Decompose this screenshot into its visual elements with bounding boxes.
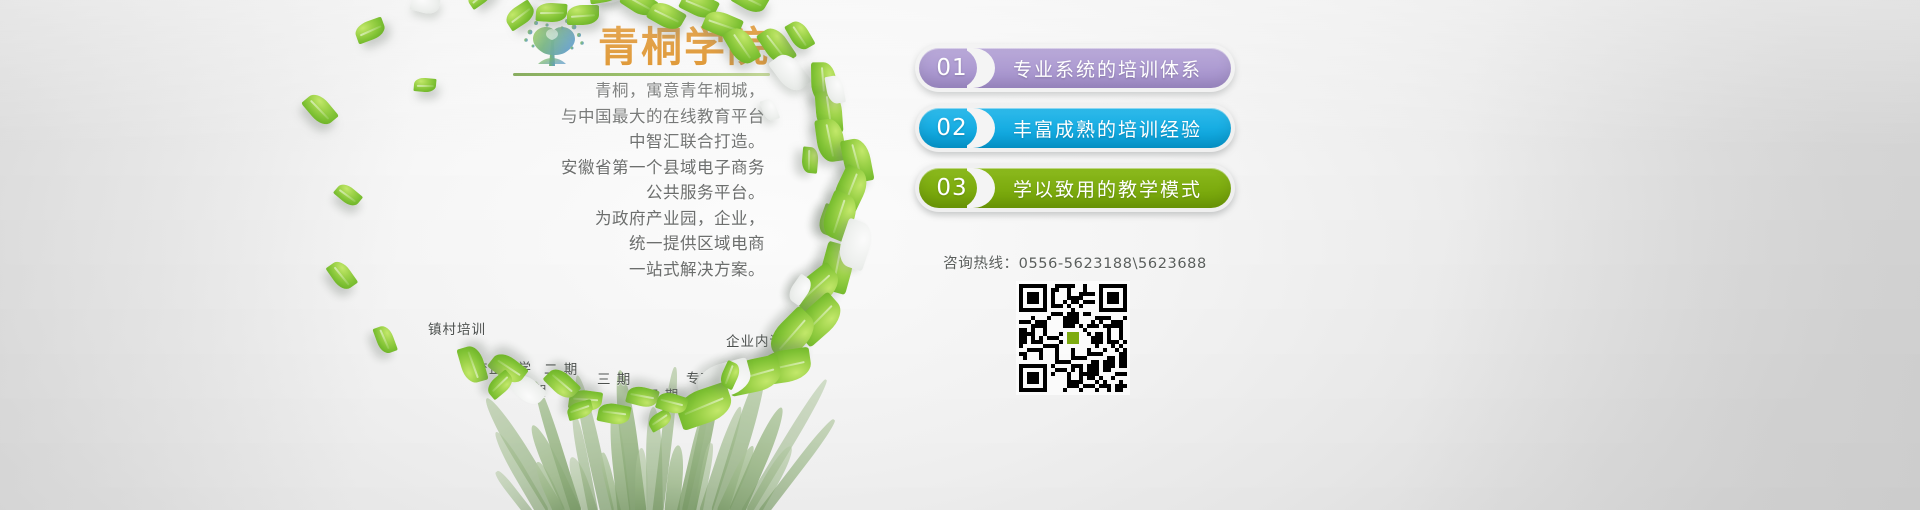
- leaf-icon: [465, 0, 496, 10]
- leaf-vein: [808, 150, 810, 170]
- leaf-vein: [631, 393, 655, 399]
- leaf-vein: [510, 8, 529, 23]
- feature-pill-03[interactable]: 03学以致用的教学模式: [915, 164, 1235, 212]
- leaf-icon: [409, 0, 441, 17]
- pill-number: 01: [919, 55, 983, 81]
- leaf-icon: [301, 90, 339, 130]
- leaf-vein: [601, 411, 625, 416]
- leaf-icon: [372, 324, 398, 356]
- leaf-icon: [326, 257, 358, 292]
- pill-label: 丰富成熟的培训经验: [983, 115, 1202, 142]
- leaf-vein: [738, 0, 762, 7]
- feature-pill-02[interactable]: 02丰富成熟的培训经验: [915, 104, 1235, 152]
- banner-stage: 青桐学院 青桐，寓意青年桐城，与中国最大的在线教育平台中智汇联合打造。安徽省第一…: [0, 0, 1920, 510]
- program-label: 镇村培训: [428, 318, 486, 338]
- hotline-text: 咨询热线：0556-5623188\5623688: [915, 252, 1235, 273]
- leaf-vein: [627, 0, 651, 11]
- leaf-icon: [567, 5, 599, 25]
- pill-number: 02: [919, 115, 983, 141]
- leaf-vein: [732, 33, 750, 58]
- leaf-vein: [792, 25, 806, 45]
- feature-pill-01[interactable]: 01专业系统的培训体系: [915, 44, 1235, 92]
- leaf-vein: [551, 374, 572, 392]
- leaf-vein: [540, 13, 564, 15]
- leaf-icon: [333, 180, 363, 209]
- qr-code[interactable]: [1016, 281, 1130, 395]
- description-line: 为政府产业园，企业，: [440, 206, 765, 232]
- leaf-vein: [379, 330, 389, 350]
- leaf-icon: [353, 16, 388, 44]
- leaf-vein: [334, 266, 350, 285]
- leaf-vein: [359, 25, 381, 36]
- grass-tuft-decoration: [520, 330, 770, 510]
- leaf-icon: [801, 146, 819, 173]
- leaf-vein: [570, 14, 594, 18]
- description-line: 公共服务平台。: [440, 180, 765, 206]
- leaf-vein: [570, 405, 589, 413]
- pill-label: 专业系统的培训体系: [983, 55, 1202, 82]
- leaf-vein: [686, 0, 712, 11]
- leaf-vein: [417, 85, 434, 87]
- description-line: 中智汇联合打造。: [440, 129, 765, 155]
- leaf-icon: [413, 77, 436, 92]
- program-label: 三 期: [597, 368, 631, 388]
- leaf-vein: [652, 413, 668, 425]
- description-line: 安徽省第一个县域电子商务: [440, 155, 765, 181]
- description-text: 青桐，寓意青年桐城，与中国最大的在线教育平台中智汇联合打造。安徽省第一个县域电子…: [440, 78, 765, 282]
- leaf-vein: [339, 189, 356, 202]
- logo-divider: [513, 73, 770, 76]
- leaf-vein: [472, 0, 489, 4]
- leaf-vein: [661, 399, 684, 406]
- leaf-vein: [310, 100, 329, 120]
- leaf-vein: [468, 351, 479, 378]
- description-line: 一站式解决方案。: [440, 257, 765, 283]
- leaf-vein: [779, 319, 806, 350]
- leaf-vein: [826, 124, 834, 156]
- leaf-icon: [457, 344, 489, 386]
- leaf-vein: [833, 199, 846, 233]
- description-line: 与中国最大的在线教育平台: [440, 104, 765, 130]
- description-line: 统一提供区域电商: [440, 231, 765, 257]
- description-line: 青桐，寓意青年桐城，: [440, 78, 765, 104]
- leaf-vein: [491, 376, 508, 392]
- pill-label: 学以致用的教学模式: [983, 175, 1202, 202]
- feature-pill-list: 01专业系统的培训体系02丰富成熟的培训经验03学以致用的教学模式: [915, 44, 1235, 224]
- leaf-vein: [684, 397, 723, 415]
- leaf-vein: [653, 9, 678, 22]
- pill-number: 03: [919, 175, 983, 201]
- leaf-vein: [725, 365, 734, 384]
